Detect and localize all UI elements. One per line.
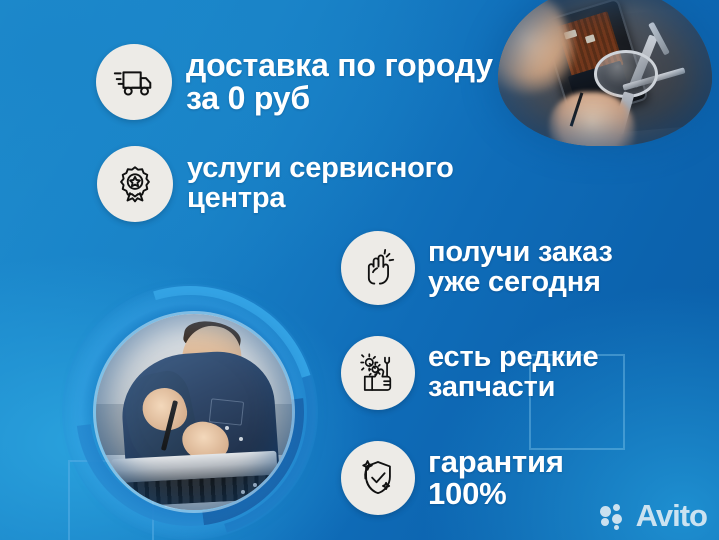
photo-vignette (498, 0, 712, 146)
laptop-technician-photo-frame (62, 284, 318, 540)
award-badge-icon (97, 146, 173, 222)
delivery-truck-icon (96, 44, 172, 120)
feature-rare-parts: есть редкие запчасти (341, 336, 598, 410)
ring-arc (621, 456, 649, 484)
phone-repair-photo (498, 0, 712, 146)
feature-warranty-label: гарантия 100% (428, 446, 564, 509)
ring-arc (0, 0, 184, 268)
avito-watermark: Avito (600, 500, 707, 531)
feature-delivery: доставка по городу за 0 руб (96, 44, 493, 120)
finger-snap-hand-icon (341, 231, 415, 305)
feature-warranty: гарантия 100% (341, 441, 564, 515)
laptop-technician-photo (96, 314, 292, 510)
photo-vignette (96, 314, 292, 510)
feature-rare-parts-label: есть редкие запчасти (428, 343, 598, 402)
feature-service-center: услуги сервисного центра (97, 146, 454, 222)
shield-check-icon (341, 441, 415, 515)
avito-dots-icon (600, 504, 630, 528)
feature-service-center-label: услуги сервисного центра (187, 154, 454, 213)
feature-delivery-label: доставка по городу за 0 руб (186, 49, 493, 114)
feature-order-today: получи заказ уже сегодня (341, 231, 613, 305)
avito-wordmark: Avito (636, 500, 707, 531)
gears-wrench-thumbsup-icon (341, 336, 415, 410)
advertisement-banner: доставка по городу за 0 руб услуги серви… (0, 0, 719, 540)
ring-arc (0, 0, 184, 268)
feature-order-today-label: получи заказ уже сегодня (428, 238, 613, 297)
